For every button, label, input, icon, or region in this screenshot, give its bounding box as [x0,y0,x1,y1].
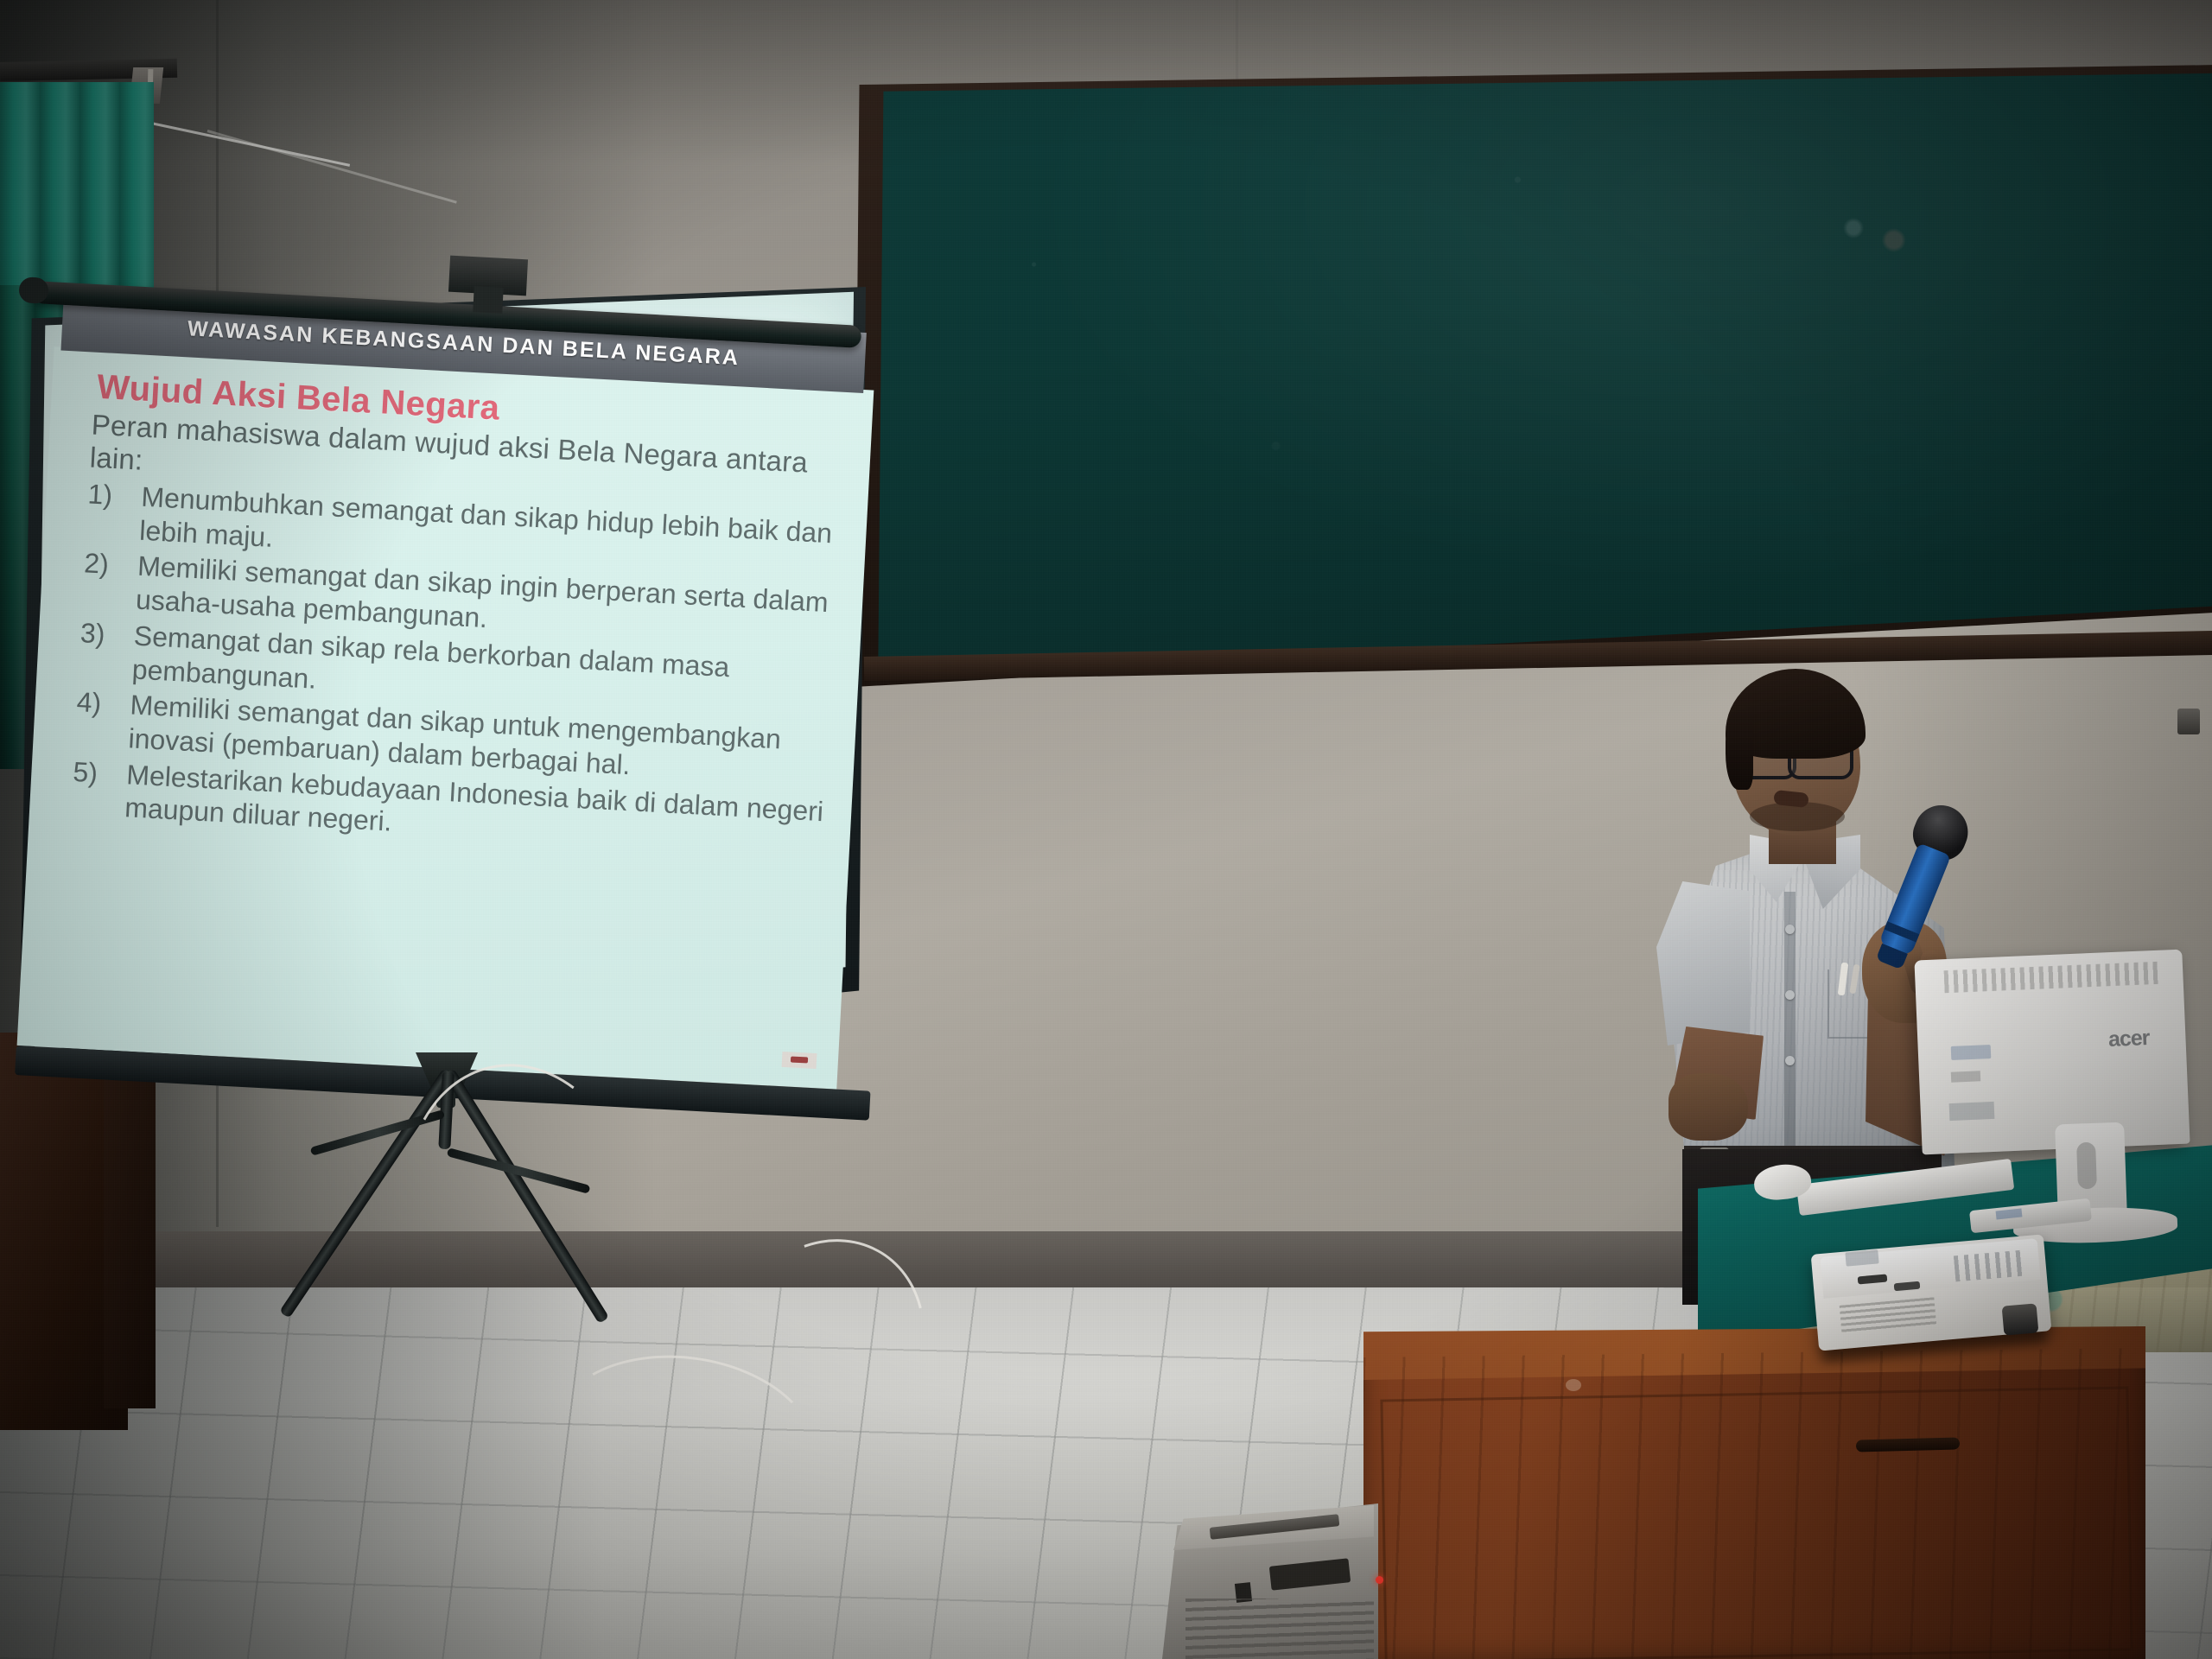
monitor-sticker [1951,1045,1992,1060]
list-item-number: 2) [81,547,138,617]
acer-brand-label: acer [2107,1026,2150,1052]
list-item-number: 4) [74,685,131,755]
list-item-number: 3) [78,616,135,686]
monitor-sticker [1949,1102,1995,1121]
podium-front-panel [1380,1386,2133,1659]
slide-bullet-list: 1) Menumbuhkan semangat dan sikap hidup … [54,476,844,861]
wall-outlet [2177,709,2200,734]
screen-brand-label [782,1052,817,1069]
classroom-photo-scene: Wujud Aksi Bela Negara Peran mahasiswa d… [0,0,2212,1659]
list-item-number: 5) [70,755,127,825]
podium-knot [1566,1379,1581,1391]
projector-lens [2002,1303,2039,1335]
power-led-indicator [1376,1576,1383,1584]
shirt-button [1785,990,1795,1000]
shirt-button [1785,925,1795,934]
list-item-number: 1) [86,477,143,547]
slide-body: Wujud Aksi Bela Negara Peran mahasiswa d… [17,346,874,1089]
shirt-button [1785,1056,1795,1065]
presenter-hair [1726,710,1753,790]
monitor-stand-cutout [2076,1142,2097,1190]
presenter-left-hand [1669,1073,1748,1141]
amplifier-grille [1185,1599,1374,1659]
presenter-left-sleeve [1656,881,1750,1046]
screen-hanger-clamp [473,286,504,314]
monitor-sticker [1951,1071,1980,1082]
blackboard-chalk-marks [873,71,2212,676]
presentation-slide: Wujud Aksi Bela Negara Peran mahasiswa d… [0,292,849,1091]
projector-label [1845,1249,1878,1266]
